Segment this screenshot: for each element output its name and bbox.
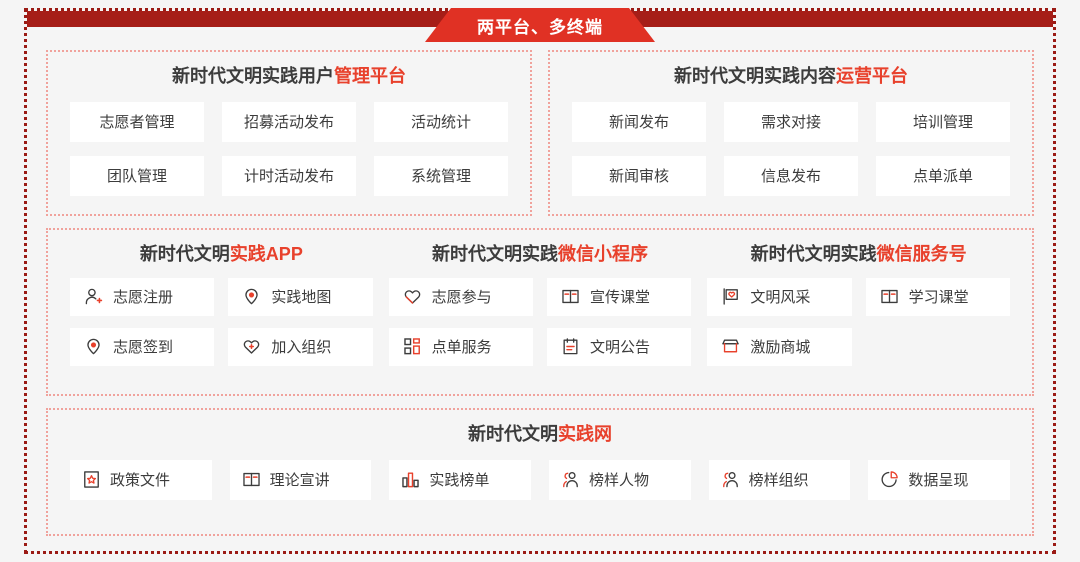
title-plain-text: 新时代文明实践 <box>751 244 877 264</box>
practice-web-grid: 政策文件 理论宣讲 实践榜单 <box>48 446 1032 500</box>
title-plain-text: 新时代文明实践用户 <box>172 66 334 86</box>
grid-apps-icon <box>403 337 422 356</box>
tile-volunteer-checkin[interactable]: 志愿签到 <box>70 328 214 366</box>
open-book-icon <box>880 287 899 306</box>
tile-label: 实践地图 <box>271 286 331 307</box>
tile-policy-documents[interactable]: 政策文件 <box>70 460 212 500</box>
title-highlight-text: 实践APP <box>230 244 303 264</box>
title-plain-text: 新时代文明实践 <box>432 244 558 264</box>
tile-label: 政策文件 <box>110 469 170 490</box>
banner-ribbon: 两平台、多终端 <box>425 8 655 42</box>
two-people-icon <box>721 470 740 489</box>
tile-civilization-announcement[interactable]: 文明公告 <box>547 328 691 366</box>
panel-practice-web: 新时代文明实践网 政策文件 理论宣讲 <box>46 408 1034 536</box>
map-pin-icon <box>242 287 261 306</box>
tile-label: 理论宣讲 <box>270 469 330 490</box>
terminals-columns: 新时代文明实践APP 志愿注册 <box>48 230 1032 366</box>
two-people-icon <box>561 470 580 489</box>
terminal-column-service-account: 新时代文明实践微信服务号 文明风采 <box>699 230 1018 366</box>
panel-content-platform-title: 新时代文明实践内容运营平台 <box>550 66 1032 88</box>
tile-civilization-style[interactable]: 文明风采 <box>707 278 851 316</box>
tile-role-model-organization[interactable]: 榜样组织 <box>709 460 851 500</box>
terminal-column-miniprogram: 新时代文明实践微信小程序 志愿参与 <box>381 230 700 366</box>
tile-label: 学习课堂 <box>909 286 969 307</box>
tile-theory-lecture[interactable]: 理论宣讲 <box>230 460 372 500</box>
pie-chart-icon <box>880 470 899 489</box>
tile-label: 志愿参与 <box>432 286 492 307</box>
tile-label: 实践榜单 <box>429 469 489 490</box>
title-plain-text: 新时代文明实践内容 <box>674 66 836 86</box>
panel-practice-web-title: 新时代文明实践网 <box>48 424 1032 446</box>
title-highlight-text: 微信小程序 <box>558 244 648 264</box>
panel-terminals: 新时代文明实践APP 志愿注册 <box>46 228 1034 396</box>
tile-volunteer-register[interactable]: 志愿注册 <box>70 278 214 316</box>
clipboard-icon <box>561 337 580 356</box>
terminal-service-account-title: 新时代文明实践微信服务号 <box>707 244 1010 266</box>
tile-label: 志愿注册 <box>113 286 173 307</box>
title-highlight-text: 实践网 <box>558 424 612 444</box>
terminal-column-app: 新时代文明实践APP 志愿注册 <box>62 230 381 366</box>
tile-news-review[interactable]: 新闻审核 <box>572 156 706 196</box>
open-book-icon <box>242 470 261 489</box>
tile-activity-statistics[interactable]: 活动统计 <box>374 102 508 142</box>
tile-demand-matching[interactable]: 需求对接 <box>724 102 858 142</box>
document-star-icon <box>82 470 101 489</box>
tile-study-classroom[interactable]: 学习课堂 <box>866 278 1010 316</box>
person-plus-icon <box>84 287 103 306</box>
tile-label: 激励商城 <box>750 336 810 357</box>
panel-user-platform: 新时代文明实践用户管理平台 志愿者管理 招募活动发布 活动统计 团队管理 计时活… <box>46 50 532 216</box>
flag-heart-icon <box>721 287 740 306</box>
title-highlight-text: 运营平台 <box>836 66 908 86</box>
title-plain-text: 新时代文明 <box>468 424 558 444</box>
tile-label: 志愿签到 <box>113 336 173 357</box>
tile-order-dispatch[interactable]: 点单派单 <box>876 156 1010 196</box>
tile-volunteer-participate[interactable]: 志愿参与 <box>389 278 533 316</box>
tile-label: 榜样人物 <box>589 469 649 490</box>
tile-placeholder <box>866 328 1010 366</box>
title-plain-text: 新时代文明 <box>140 244 230 264</box>
tile-practice-ranking[interactable]: 实践榜单 <box>389 460 531 500</box>
bar-chart-icon <box>401 470 420 489</box>
store-icon <box>721 337 740 356</box>
title-highlight-text: 管理平台 <box>334 66 406 86</box>
tile-join-organization[interactable]: 加入组织 <box>228 328 372 366</box>
tile-practice-map[interactable]: 实践地图 <box>228 278 372 316</box>
tile-info-publish[interactable]: 信息发布 <box>724 156 858 196</box>
terminal-service-account-grid: 文明风采 学习课堂 <box>707 266 1010 366</box>
tile-label: 文明风采 <box>750 286 810 307</box>
tile-team-management[interactable]: 团队管理 <box>70 156 204 196</box>
tile-data-presentation[interactable]: 数据呈现 <box>868 460 1010 500</box>
tile-label: 榜样组织 <box>749 469 809 490</box>
tile-order-service[interactable]: 点单服务 <box>389 328 533 366</box>
terminal-app-grid: 志愿注册 实践地图 <box>70 266 373 366</box>
tile-volunteer-management[interactable]: 志愿者管理 <box>70 102 204 142</box>
terminal-app-title: 新时代文明实践APP <box>70 244 373 266</box>
tile-news-publish[interactable]: 新闻发布 <box>572 102 706 142</box>
terminal-miniprogram-grid: 志愿参与 宣传课堂 <box>389 266 692 366</box>
tile-publicity-classroom[interactable]: 宣传课堂 <box>547 278 691 316</box>
panel-content-platform: 新时代文明实践内容运营平台 新闻发布 需求对接 培训管理 新闻审核 信息发布 点… <box>548 50 1034 216</box>
content-platform-tile-grid: 新闻发布 需求对接 培训管理 新闻审核 信息发布 点单派单 <box>550 88 1032 196</box>
tile-label: 宣传课堂 <box>590 286 650 307</box>
heart-plus-icon <box>242 337 261 356</box>
tile-label: 文明公告 <box>590 336 650 357</box>
tile-system-management[interactable]: 系统管理 <box>374 156 508 196</box>
title-highlight-text: 微信服务号 <box>877 244 967 264</box>
tile-label: 加入组织 <box>271 336 331 357</box>
panel-user-platform-title: 新时代文明实践用户管理平台 <box>48 66 530 88</box>
tile-role-model-person[interactable]: 榜样人物 <box>549 460 691 500</box>
tile-recruit-activity-publish[interactable]: 招募活动发布 <box>222 102 356 142</box>
tile-timed-activity-publish[interactable]: 计时活动发布 <box>222 156 356 196</box>
tile-label: 数据呈现 <box>908 469 968 490</box>
tile-label: 点单服务 <box>432 336 492 357</box>
user-platform-tile-grid: 志愿者管理 招募活动发布 活动统计 团队管理 计时活动发布 系统管理 <box>48 88 530 196</box>
heart-icon <box>403 287 422 306</box>
terminal-miniprogram-title: 新时代文明实践微信小程序 <box>389 244 692 266</box>
tile-incentive-mall[interactable]: 激励商城 <box>707 328 851 366</box>
tile-training-management[interactable]: 培训管理 <box>876 102 1010 142</box>
map-pin-check-icon <box>84 337 103 356</box>
open-book-icon <box>561 287 580 306</box>
